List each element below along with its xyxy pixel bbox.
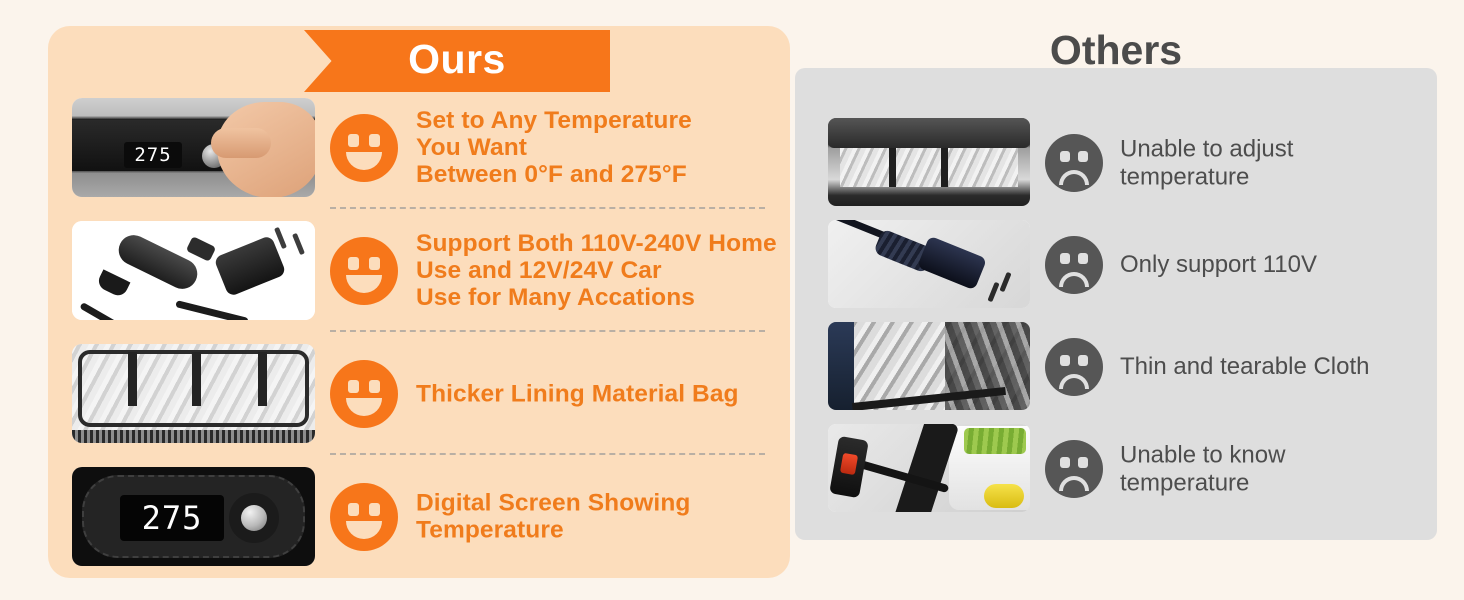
ours-feature-text: Set to Any Temperature You Want Between …: [416, 106, 816, 188]
smiley-sad-icon: [1045, 338, 1103, 396]
ours-feature-text: Support Both 110V-240V Home Use and 12V/…: [416, 229, 816, 311]
ours-feature-text: Thicker Lining Material Bag: [416, 380, 816, 407]
ours-feature-row: Thicker Lining Material Bag: [48, 332, 790, 455]
smiley-happy-icon: [330, 360, 398, 428]
smiley-happy-icon: [330, 237, 398, 305]
ours-feature-row: Support Both 110V-240V Home Use and 12V/…: [48, 209, 790, 332]
ours-feature-row: 275 Set to Any Temperature You Want Betw…: [48, 86, 790, 209]
others-title: Others: [795, 30, 1437, 71]
car-plug-and-ac-plug-photo: [72, 221, 315, 320]
thin-foil-lining-photo: [828, 322, 1030, 410]
smiley-sad-icon: [1045, 440, 1103, 498]
cable-switch-food-photo: [828, 424, 1030, 512]
others-feature-list: Unable to adjust temperature Only suppor…: [795, 112, 1437, 520]
foil-lining-interior-photo: [72, 344, 315, 443]
others-feature-text: Only support 110V: [1120, 251, 1420, 279]
temperature-display: 275: [124, 142, 182, 168]
ours-banner: Ours: [304, 30, 610, 92]
ours-panel: Ours 275 Set to Any Temperature You Want…: [48, 26, 790, 578]
smiley-sad-icon: [1045, 236, 1103, 294]
comparison-infographic: Ours 275 Set to Any Temperature You Want…: [0, 0, 1464, 600]
ours-feature-list: 275 Set to Any Temperature You Want Betw…: [48, 86, 790, 578]
smiley-happy-icon: [330, 114, 398, 182]
single-ac-plug-photo: [828, 220, 1030, 308]
others-feature-row: Thin and tearable Cloth: [795, 316, 1437, 418]
others-feature-row: Unable to know temperature: [795, 418, 1437, 520]
control-knob-hand-display-photo: 275: [72, 98, 315, 197]
ours-feature-row: 275 Digital Screen Showing Temperature: [48, 455, 790, 578]
others-feature-row: Unable to adjust temperature: [795, 112, 1437, 214]
smiley-happy-icon: [330, 483, 398, 551]
digital-control-panel-photo: 275: [72, 467, 315, 566]
others-feature-text: Unable to know temperature: [1120, 441, 1420, 496]
others-feature-text: Unable to adjust temperature: [1120, 135, 1420, 190]
ours-feature-text: Digital Screen Showing Temperature: [416, 489, 816, 544]
ours-banner-label: Ours: [408, 39, 506, 83]
temperature-display: 275: [120, 495, 224, 541]
smiley-sad-icon: [1045, 134, 1103, 192]
knob-icon: [229, 493, 279, 543]
others-feature-row: Only support 110V: [795, 214, 1437, 316]
plain-lid-foil-bag-photo: [828, 118, 1030, 206]
others-feature-text: Thin and tearable Cloth: [1120, 353, 1420, 381]
